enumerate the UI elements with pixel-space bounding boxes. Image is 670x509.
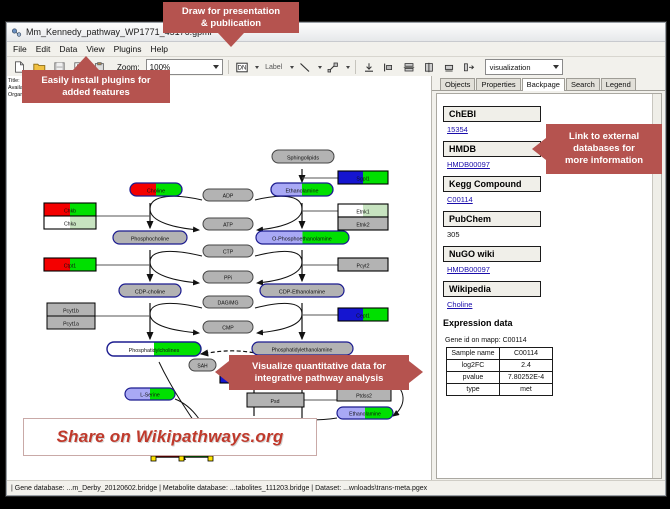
callout-arrow-right [409,361,423,383]
svg-text:DAG/MG: DAG/MG [217,301,238,307]
menu-item-view[interactable]: View [86,44,104,54]
callout-draw-for-publication: Draw for presentation & publication [163,2,299,33]
node-sah[interactable]: SAH [189,359,216,371]
gene-id-on-mapp: Gene id on mapp: C00114 [445,337,655,344]
chevron-down-icon[interactable] [290,66,294,69]
node-phosphatidylethanolamine[interactable]: Phosphatidylethanolamine [252,342,353,355]
svg-text:CMP: CMP [222,326,234,332]
expression-data-heading: Expression data [443,318,655,328]
callout-arrow-down [218,33,244,47]
svg-text:Etnk1: Etnk1 [356,210,369,216]
distribute-icon[interactable] [421,59,438,76]
align-top-icon[interactable] [361,59,378,76]
node-ppi[interactable]: PPi [203,271,253,283]
svg-text:SAH: SAH [197,364,208,370]
share-banner: Share on Wikipathways.org [23,418,317,456]
svg-text:ADP: ADP [223,194,234,200]
callout-line-2: added features [62,87,130,99]
svg-text:Psd: Psd [271,399,280,405]
align-left-icon[interactable] [381,59,398,76]
toolbar-separator [228,60,229,74]
callout-line-1: Draw for presentation [182,6,280,18]
screenshot-root: Mm_Kennedy_pathway_WP1771_45176.gpml Fil… [0,0,670,509]
expr-key-type: type [447,384,500,396]
db-link-nugo-wiki[interactable]: HMDB00097 [447,265,655,274]
table-row: log2FC 2.4 [447,360,553,372]
expr-val-log2fc: 2.4 [500,360,553,372]
callout-install-plugins: Easily install plugins for added feature… [22,70,170,103]
menu-item-data[interactable]: Data [59,44,77,54]
callout-line-2: databases for [573,143,635,155]
node-cdp-choline[interactable]: CDP-choline [119,284,181,297]
callout-visualize-quant-data: Visualize quantitative data for integrat… [229,355,409,390]
db-value-pubchem: 305 [447,230,655,239]
node-chka[interactable]: Chka [44,216,96,229]
expr-val-type: met [500,384,553,396]
svg-text:L-Serine: L-Serine [140,393,160,399]
menu-item-file[interactable]: File [13,44,27,54]
svg-text:Etnk2: Etnk2 [356,223,369,229]
node-ethanolamine-top[interactable]: Ethanolamine [271,183,333,196]
table-row: type met [447,384,553,396]
line-tool-icon[interactable] [297,59,314,76]
chevron-down-icon[interactable] [318,66,322,69]
callout-line-1: Link to external [569,131,639,143]
node-phosphatidylcholines[interactable]: Phosphatidylcholines [107,342,201,356]
db-link-kegg[interactable]: C00114 [447,195,655,204]
node-sgpl1[interactable]: Sgpl1 [338,171,388,184]
svg-text:Phosphatidylethanolamine: Phosphatidylethanolamine [272,348,333,354]
visualization-value: visualization [490,63,531,72]
svg-text:Chkb: Chkb [64,209,76,215]
db-header-hmdb: HMDB [443,141,541,157]
svg-text:CTP: CTP [223,250,234,256]
svg-text:O-Phosphoethanolamine: O-Phosphoethanolamine [272,237,332,243]
svg-text:CDP-choline: CDP-choline [135,290,165,296]
svg-text:Phosphatidylcholines: Phosphatidylcholines [129,348,180,354]
node-cmp[interactable]: CMP [203,321,253,333]
db-header-wikipedia: Wikipedia [443,281,541,297]
pathvisio-app-icon [11,27,22,38]
table-row: pvalue 7.80252E-4 [447,372,553,384]
node-psd[interactable]: Psd [247,393,304,407]
pathway-cofactor-arcs [150,196,302,333]
tab-backpage[interactable]: Backpage [522,78,565,91]
status-text: | Gene database: ...m_Derby_20120602.bri… [11,485,427,492]
node-choline-top[interactable]: Choline [130,183,182,196]
node-o-phosphoethanolamine[interactable]: O-Phosphoethanolamine [256,231,349,244]
interaction-tool-icon[interactable] [325,59,342,76]
node-etnk1[interactable]: Etnk1 [338,204,388,217]
table-row: Sample name C00114 [447,348,553,360]
group-icon[interactable] [441,59,458,76]
node-phosphocholine[interactable]: Phosphocholine [113,231,187,244]
svg-text:Sgpl1: Sgpl1 [356,177,369,183]
svg-text:Pcyt2: Pcyt2 [357,264,370,270]
chevron-down-icon [213,65,219,69]
tab-legend[interactable]: Legend [601,78,636,90]
svg-text:Cept1: Cept1 [356,314,370,320]
db-header-kegg: Kegg Compound [443,176,541,192]
chevron-down-icon[interactable] [255,66,259,69]
callout-external-links: Link to external databases for more info… [546,124,662,174]
db-header-chebi: ChEBI [443,106,541,122]
svg-text:ATP: ATP [223,223,233,229]
expr-key-log2fc: log2FC [447,360,500,372]
node-pcyt1b[interactable]: Pcyt1b [47,303,95,316]
tab-properties[interactable]: Properties [476,78,520,90]
node-cept1[interactable]: Cept1 [338,308,388,321]
svg-text:Pcyt1a: Pcyt1a [63,322,79,328]
callout-line-1: Easily install plugins for [41,75,150,87]
node-cdp-ethanolamine[interactable]: CDP-Ethanolamine [260,284,344,297]
db-link-wikipedia[interactable]: Choline [447,300,655,309]
callout-line-2: integrative pathway analysis [255,373,384,385]
share-banner-text: Share on Wikipathways.org [57,427,284,447]
svg-text:Phosphocholine: Phosphocholine [131,237,169,243]
expr-val-sample-name: C00114 [500,348,553,360]
svg-text:PPi: PPi [224,276,232,282]
svg-text:Ctpt1: Ctpt1 [64,264,77,270]
menu-item-edit[interactable]: Edit [36,44,51,54]
db-header-pubchem: PubChem [443,211,541,227]
label-tool-button[interactable]: Label [262,59,286,76]
tab-objects[interactable]: Objects [440,78,475,90]
node-adp[interactable]: ADP [203,189,253,201]
svg-text:CDP-Ethanolamine: CDP-Ethanolamine [279,290,325,296]
db-header-nugo-wiki: NuGO wiki [443,246,541,262]
menu-item-plugins[interactable]: Plugins [114,44,142,54]
menu-item-help[interactable]: Help [151,44,168,54]
expression-table: Sample name C00114 log2FC 2.4 pvalue 7.8… [446,347,553,396]
callout-line-1: Visualize quantitative data for [252,361,386,373]
expr-val-pvalue: 7.80252E-4 [500,372,553,384]
node-chkb[interactable]: Chkb [44,203,96,216]
callout-arrow-up [73,56,99,70]
callout-line-2: & publication [201,18,261,30]
status-bar: | Gene database: ...m_Derby_20120602.bri… [7,480,665,495]
title-bar: Mm_Kennedy_pathway_WP1771_45176.gpml [7,23,665,42]
menu-bar[interactable]: File Edit Data View Plugins Help [7,42,665,57]
stack-center-icon[interactable] [401,59,418,76]
tab-search[interactable]: Search [566,78,600,90]
order-icon[interactable] [461,59,478,76]
callout-arrow-left [215,361,229,383]
node-pcyt2[interactable]: Pcyt2 [338,258,388,271]
node-ctpt1[interactable]: Ctpt1 [44,258,96,271]
svg-text:Pcyt1b: Pcyt1b [63,309,79,315]
chevron-down-icon [553,65,559,69]
callout-arrow-left [532,138,546,160]
svg-text:Choline: Choline [147,189,165,195]
svg-text:DN: DN [238,65,247,71]
node-ctp[interactable]: CTP [203,245,253,257]
svg-text:Sphingolipids: Sphingolipids [287,156,319,162]
svg-text:Ptdss2: Ptdss2 [356,394,372,400]
node-sphingolipids[interactable]: Sphingolipids [272,150,334,163]
node-atp[interactable]: ATP [203,218,253,230]
node-etnk2[interactable]: Etnk2 [338,217,388,230]
expr-key-sample-name: Sample name [447,348,500,360]
callout-line-3: more information [565,155,643,167]
pathway-pemt-edge [201,351,260,354]
visualization-select[interactable]: visualization [485,59,563,75]
node-dag-mg[interactable]: DAG/MG [203,296,253,308]
datanode-tool-icon[interactable]: DN [234,59,251,76]
svg-text:Chka: Chka [64,222,76,228]
node-pcyt1a[interactable]: Pcyt1a [47,316,95,329]
node-l-serine-left[interactable]: L-Serine [125,388,175,400]
node-ethanolamine-bottom[interactable]: Ethanolamine [337,407,393,419]
panel-tabs[interactable]: Objects Properties Backpage Search Legen… [432,76,665,91]
svg-text:Ethanolamine: Ethanolamine [349,412,381,418]
toolbar-separator [355,60,356,74]
svg-text:Ethanolamine: Ethanolamine [286,189,319,195]
chevron-down-icon[interactable] [346,66,350,69]
expr-key-pvalue: pvalue [447,372,500,384]
